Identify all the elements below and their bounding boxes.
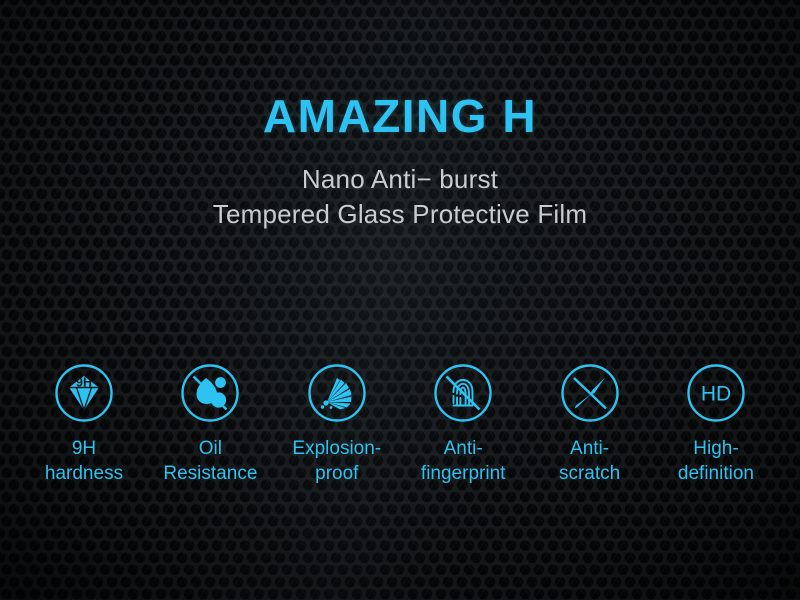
feature-item-anti-scratch: Anti- scratch xyxy=(534,362,646,486)
product-poster: AMAZING H Nano Anti− burst Tempered Glas… xyxy=(0,0,800,600)
label-line-2: hardness xyxy=(45,461,123,486)
feature-item-high-definition: HD High- definition xyxy=(660,362,772,486)
feature-item-explosion-proof: Explosion- proof xyxy=(281,362,393,486)
label-line-2: proof xyxy=(292,461,381,486)
label-line-1: Anti- xyxy=(559,436,620,461)
feature-item-oil-resistance: Oil Resistance xyxy=(154,362,266,486)
label-line-2: scratch xyxy=(559,461,620,486)
label-line-1: Explosion- xyxy=(292,436,381,461)
feature-item-9h-hardness: 9H 9H hardness xyxy=(28,362,140,486)
feature-label-oil-resistance: Oil Resistance xyxy=(163,436,257,486)
knife-scratch-no-icon xyxy=(559,362,621,424)
oil-droplet-no-icon xyxy=(179,362,241,424)
label-line-1: Anti- xyxy=(421,436,506,461)
diamond-icon-text: 9H xyxy=(76,376,92,390)
hd-icon-text: HD xyxy=(701,383,731,406)
feature-label-9h-hardness: 9H hardness xyxy=(45,436,123,486)
label-line-1: 9H xyxy=(45,436,123,461)
label-line-2: definition xyxy=(678,461,754,486)
feature-label-anti-scratch: Anti- scratch xyxy=(559,436,620,486)
page-title: AMAZING H xyxy=(0,92,800,140)
label-line-1: Oil xyxy=(163,436,257,461)
label-line-2: Resistance xyxy=(163,461,257,486)
feature-label-high-definition: High- definition xyxy=(678,436,754,486)
diamond-9h-icon: 9H xyxy=(53,362,115,424)
title-block: AMAZING H Nano Anti− burst Tempered Glas… xyxy=(0,92,800,231)
fingerprint-no-icon xyxy=(432,362,494,424)
page-subtitle: Nano Anti− burst Tempered Glass Protecti… xyxy=(0,140,800,231)
feature-item-anti-fingerprint: Anti- fingerprint xyxy=(407,362,519,486)
label-line-2: fingerprint xyxy=(421,461,506,486)
shatter-burst-icon xyxy=(306,362,368,424)
hd-circle-icon: HD xyxy=(685,362,747,424)
feature-list: 9H 9H hardness Oil Resistance xyxy=(0,362,800,486)
subtitle-line-1: Nano Anti− burst xyxy=(0,162,800,197)
label-line-1: High- xyxy=(678,436,754,461)
feature-label-anti-fingerprint: Anti- fingerprint xyxy=(421,436,506,486)
feature-label-explosion-proof: Explosion- proof xyxy=(292,436,381,486)
subtitle-line-2: Tempered Glass Protective Film xyxy=(0,197,800,232)
